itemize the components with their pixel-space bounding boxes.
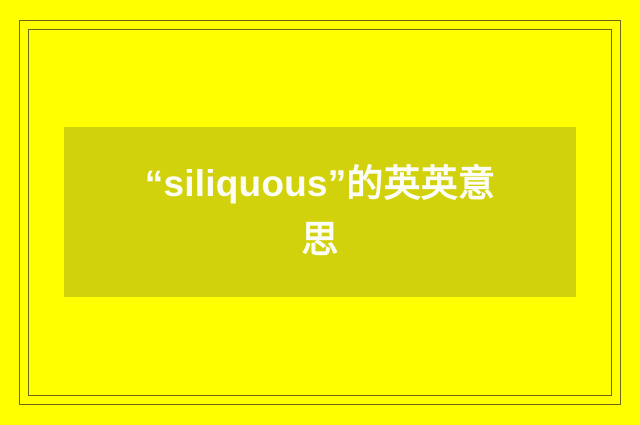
page-canvas: “siliquous”的英英意思 bbox=[0, 0, 640, 425]
title-card: “siliquous”的英英意思 bbox=[64, 127, 576, 297]
page-title: “siliquous”的英英意思 bbox=[64, 156, 576, 268]
